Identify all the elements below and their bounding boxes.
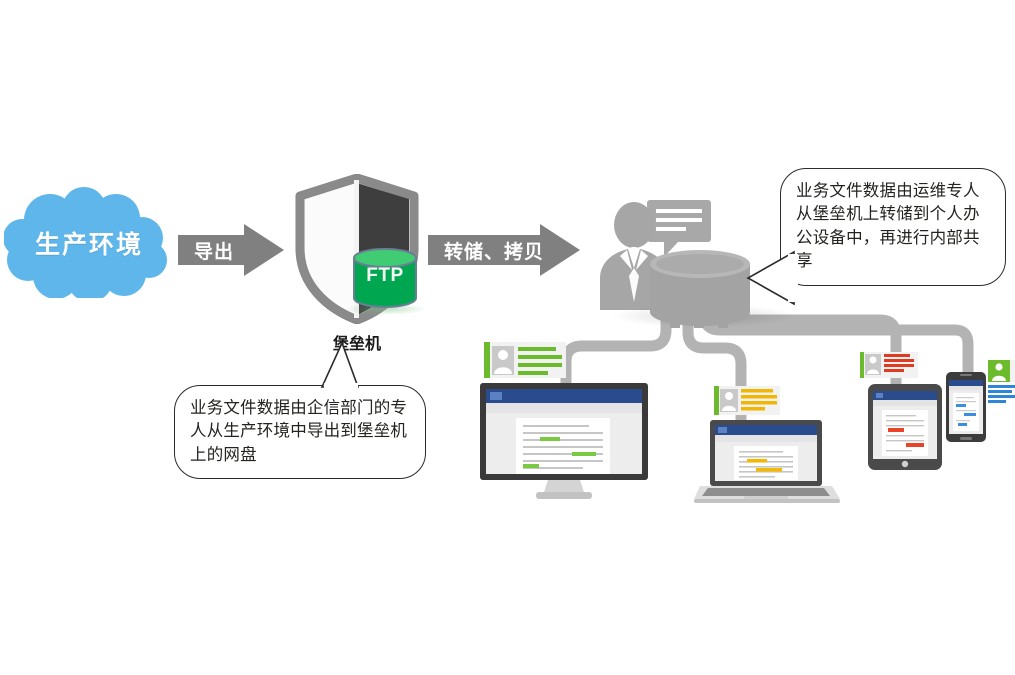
arrow-shape bbox=[178, 222, 284, 278]
diagram-canvas: 生产环境 导出 FTP 堡垒机 转储、拷贝 bbox=[0, 0, 1015, 675]
laptop bbox=[694, 386, 844, 506]
callout-left-text: 业务文件数据由企信部门的专人从生产环境中导出到堡垒机上的网盘 bbox=[190, 399, 407, 464]
user-info-card-yellow bbox=[714, 386, 780, 415]
ftp-database-icon bbox=[352, 247, 418, 309]
production-environment-cloud: 生产环境 bbox=[4, 186, 174, 298]
pipe-network bbox=[0, 0, 1015, 675]
user-info-card-red bbox=[860, 352, 918, 378]
callout-right: 业务文件数据由运维专人从堡垒机上转储到个人办公设备中，再进行内部共享 bbox=[780, 168, 1006, 286]
callout-right-text: 业务文件数据由运维专人从堡垒机上转储到个人办公设备中，再进行内部共享 bbox=[796, 182, 980, 270]
arrow-dump: 转储、拷贝 bbox=[428, 222, 580, 278]
disk-cylinder-icon bbox=[648, 250, 752, 328]
tablet bbox=[856, 352, 952, 470]
desktop-monitor-icon bbox=[476, 340, 652, 500]
arrow-export: 导出 bbox=[178, 222, 284, 278]
cloud-icon bbox=[4, 186, 174, 298]
smartphone-icon bbox=[942, 358, 1015, 442]
desktop-monitor bbox=[476, 340, 652, 500]
speech-bubble-icon bbox=[647, 200, 711, 257]
callout-right-tail bbox=[742, 248, 798, 312]
arrow-shape bbox=[428, 222, 580, 278]
user-info-card-green bbox=[484, 342, 566, 378]
user-info-card-blue bbox=[988, 360, 1015, 403]
tablet-icon bbox=[856, 352, 952, 470]
callout-left-tail bbox=[300, 341, 380, 397]
laptop-icon bbox=[694, 386, 844, 506]
callout-left: 业务文件数据由企信部门的专人从生产环境中导出到堡垒机上的网盘 bbox=[174, 385, 426, 479]
smartphone bbox=[942, 358, 1015, 442]
